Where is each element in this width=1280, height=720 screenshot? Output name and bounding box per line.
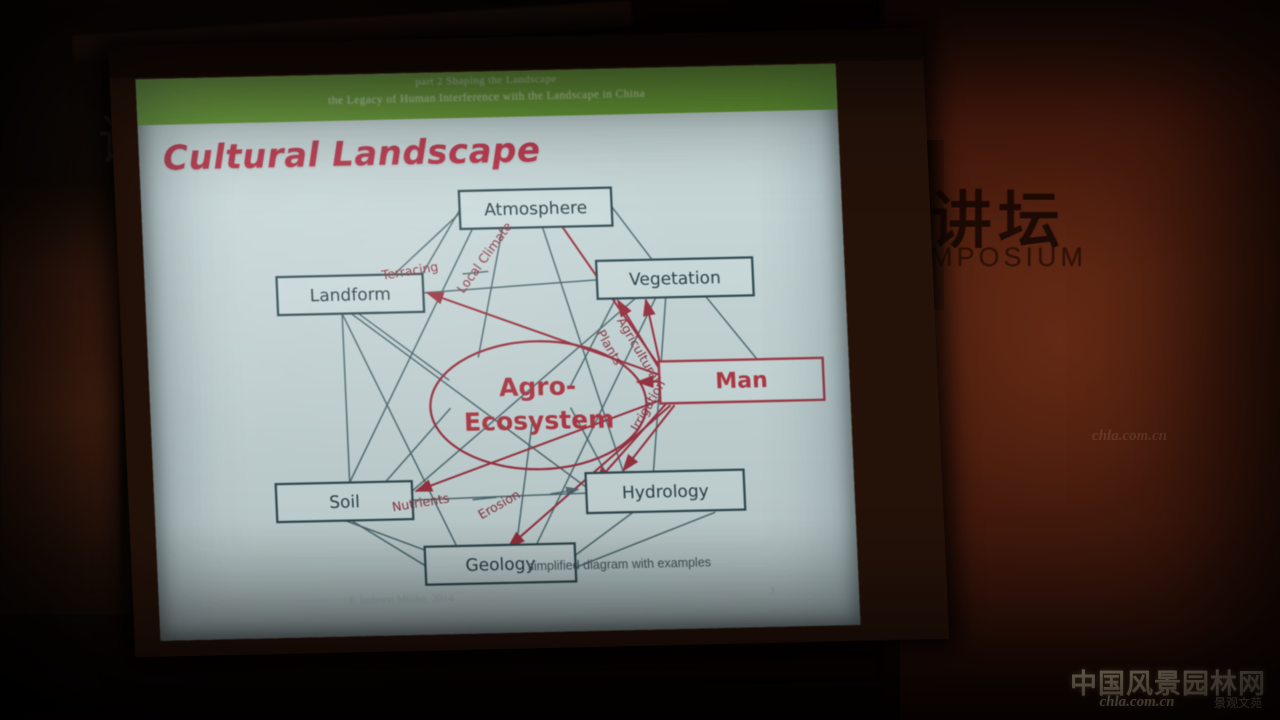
- node-label-atmosphere: Atmosphere: [484, 198, 588, 220]
- watermark-url: chla.com.cn: [1062, 694, 1212, 711]
- slide-footer-credit: F. Imhorst Müller, 2014: [349, 592, 454, 606]
- node-label-agro-line2: Ecosystem: [463, 405, 614, 437]
- node-atmosphere: Atmosphere: [459, 188, 613, 229]
- node-label-vegetation: Vegetation: [629, 268, 722, 290]
- node-label-soil: Soil: [329, 492, 361, 513]
- node-label-geology: Geology: [465, 554, 536, 576]
- node-vegetation: Vegetation: [596, 257, 754, 299]
- node-label-agro-line1: Agro-: [498, 371, 576, 402]
- node-label-man: Man: [715, 368, 769, 394]
- slide-page-number: 3: [769, 585, 775, 597]
- venue-sign-english: MPOSIUM: [930, 242, 1087, 273]
- node-hydrology: Hydrology: [585, 470, 745, 514]
- edge-label-erosion: Erosion: [475, 487, 522, 523]
- node-man: Man: [659, 358, 825, 404]
- photo-scene: 讲 讲坛 MPOSIUM part 2 Shaping the Landscap…: [0, 0, 1280, 720]
- watermark-subtitle: 景观文苑: [1214, 694, 1262, 711]
- watermark-mid: chla.com.cn: [1092, 428, 1167, 445]
- node-label-hydrology: Hydrology: [622, 481, 710, 503]
- edge-label-local-climate: Local Climate: [454, 219, 515, 296]
- left-wall-strip: [0, 180, 120, 640]
- cultural-landscape-diagram: Atmosphere Landform Vegetation Agro- Eco…: [138, 109, 859, 594]
- watermark-logo: 中国风景园林网 chla.com.cn 景观文苑: [1062, 662, 1274, 714]
- projection-screen: part 2 Shaping the Landscape the Legacy …: [108, 27, 956, 671]
- right-wall-glow: [900, 40, 1280, 600]
- node-label-landform: Landform: [309, 285, 391, 307]
- node-landform: Landform: [276, 274, 424, 315]
- presentation-slide: part 2 Shaping the Landscape the Legacy …: [136, 63, 861, 640]
